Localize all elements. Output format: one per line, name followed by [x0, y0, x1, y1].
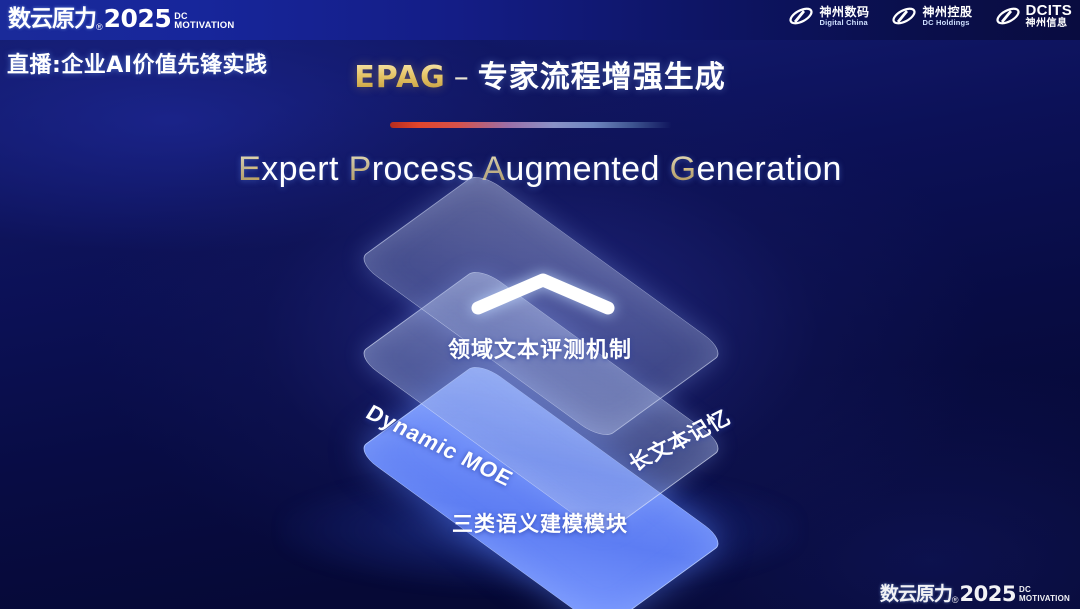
- diagram-layer-bottom-label: 三类语义建模模块: [0, 508, 1080, 538]
- watermark-logo-year: 2025: [960, 584, 1016, 605]
- registered-mark-icon: ®: [952, 595, 959, 605]
- watermark-logo-cn: 数云原力: [880, 584, 952, 605]
- layered-architecture-diagram: 领域文本评测机制 Dynamic MOE 长文本记忆 三类语义建模模块: [0, 0, 1080, 609]
- slide-canvas: 数云原力 ® 2025 DC MOTIVATION 神州数码 Digital C…: [0, 0, 1080, 609]
- chevron-up-icon: [470, 272, 616, 316]
- diagram-layer-top-label: 领域文本评测机制: [0, 332, 1080, 364]
- watermark-dc: DC: [1019, 585, 1070, 594]
- watermark-dc-block: DC MOTIVATION: [1019, 585, 1070, 605]
- watermark-motivation: MOTIVATION: [1019, 594, 1070, 603]
- footer-watermark-logo: 数云原力 ® 2025 DC MOTIVATION: [880, 584, 1070, 605]
